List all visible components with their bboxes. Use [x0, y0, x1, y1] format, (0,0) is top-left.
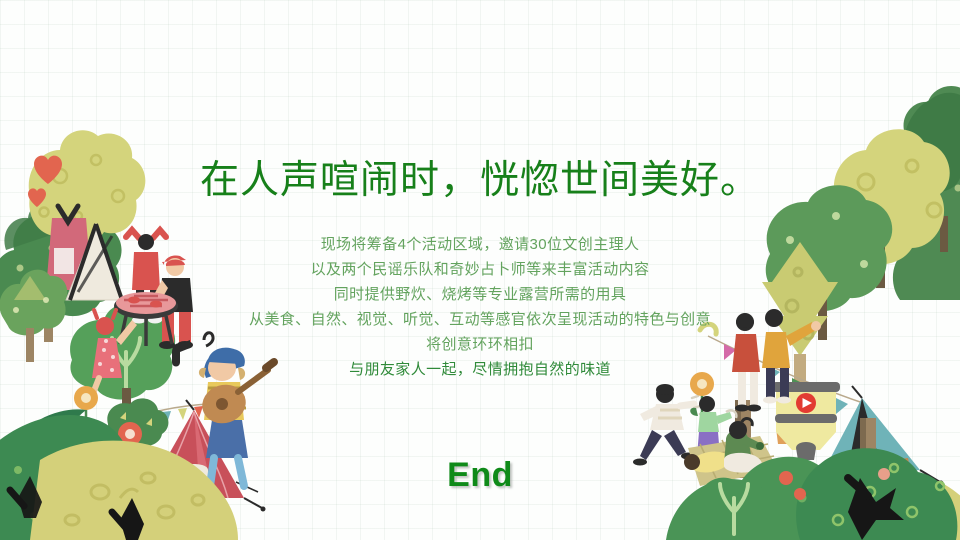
body-line: 与朋友家人一起，尽情拥抱自然的味道	[0, 357, 960, 382]
body-line: 以及两个民谣乐队和奇妙占卜师等来丰富活动内容	[0, 257, 960, 282]
body-line: 将创意环环相扣	[0, 332, 960, 357]
slide-canvas: 在人声喧闹时，恍惚世间美好。 现场将筹备4个活动区域，邀请30位文创主理人 以及…	[0, 0, 960, 540]
body-line: 从美食、自然、视觉、听觉、互动等感官依次呈现活动的特色与创意	[0, 307, 960, 332]
body-paragraph: 现场将筹备4个活动区域，邀请30位文创主理人 以及两个民谣乐队和奇妙占卜师等来丰…	[0, 232, 960, 382]
body-line: 同时提供野炊、烧烤等专业露营所需的用具	[0, 282, 960, 307]
text-layer: 在人声喧闹时，恍惚世间美好。 现场将筹备4个活动区域，邀请30位文创主理人 以及…	[0, 0, 960, 540]
body-line: 现场将筹备4个活动区域，邀请30位文创主理人	[0, 232, 960, 257]
end-label: End	[0, 455, 960, 495]
page-title: 在人声喧闹时，恍惚世间美好。	[0, 158, 960, 204]
